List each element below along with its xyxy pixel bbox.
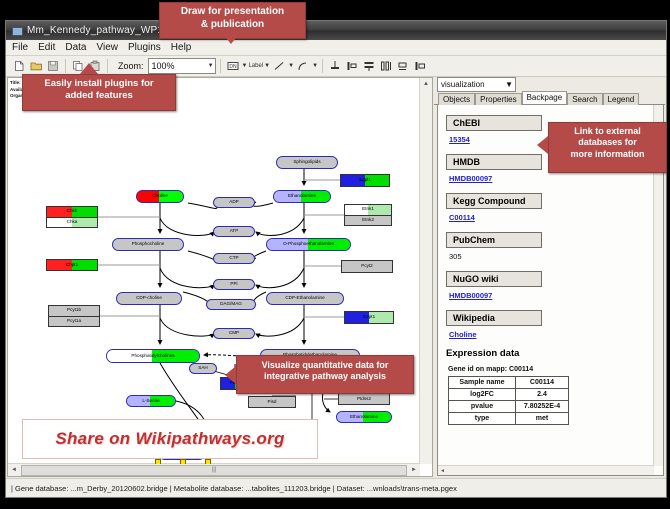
expr-key-log2fc: log2FC xyxy=(449,389,516,401)
tab-search[interactable]: Search xyxy=(567,93,602,105)
metabolite-node-phosphatidylcholines[interactable]: Phosphatidylcholines xyxy=(106,349,200,363)
node-label: Ptdss2 xyxy=(357,397,371,402)
menubar: File Edit Data View Plugins Help xyxy=(6,40,666,56)
callout-share: Share on Wikipathways.org xyxy=(22,419,318,459)
statusbar-text: | Gene database: ...m_Derby_20120602.bri… xyxy=(11,484,457,493)
arc-icon[interactable] xyxy=(295,58,311,74)
align-stack-icon[interactable] xyxy=(361,58,377,74)
toolbar-separator-2 xyxy=(107,59,108,73)
zoom-value: 100% xyxy=(152,61,175,71)
metabolite-node-l-serine-left[interactable]: L-Serine xyxy=(126,395,176,407)
window-titlebar: Mm_Kennedy_pathway_WP1771_45176.gpml xyxy=(6,21,666,40)
menu-view[interactable]: View xyxy=(96,42,118,53)
callout-plugins-line2: added features xyxy=(23,90,175,102)
expr-val-log2fc: 2.4 xyxy=(516,389,569,401)
gene-node-row: Etnk1 xyxy=(345,205,391,215)
align-width-icon[interactable] xyxy=(378,58,394,74)
chevron-down-icon: ▼ xyxy=(505,80,513,89)
canvas-hscrollbar[interactable]: ◄ ||| ► xyxy=(8,463,420,476)
screenshot-root: Mm_Kennedy_pathway_WP1771_45176.gpml Fil… xyxy=(0,0,670,509)
chevron-down-icon: ▼ xyxy=(208,63,214,69)
node-label: SAH xyxy=(198,366,207,371)
table-row: type met xyxy=(449,413,569,425)
metabolite-node-dag-mag[interactable]: DAG/MAG xyxy=(206,299,256,310)
callout-link-arrow-icon xyxy=(537,136,548,154)
node-label: Phosphatidylcholines xyxy=(131,354,174,359)
gene-node-pcyt1b-pcyt1a[interactable]: Pcyt1bPcyt1a xyxy=(48,305,100,327)
expr-val-pvalue: 7.80252E-4 xyxy=(516,401,569,413)
metabolite-node-phosphocholine[interactable]: Phosphocholine xyxy=(112,238,184,251)
interaction-dropdown[interactable]: ▼ xyxy=(295,58,318,74)
node-label: Sgpl1 xyxy=(359,178,371,183)
datanode-dropdown[interactable]: DN ▼ xyxy=(225,58,248,74)
metabolite-node-ppi[interactable]: PPi xyxy=(213,279,255,290)
gene-node-ptdss2[interactable]: Ptdss2 xyxy=(338,393,390,405)
align-top-icon[interactable] xyxy=(327,58,343,74)
scroll-left-icon[interactable]: ◄ xyxy=(438,467,447,475)
node-label: Chkb xyxy=(67,209,78,214)
table-row: Sample name C00114 xyxy=(449,377,569,389)
node-label: ATP xyxy=(230,229,239,234)
gene-node-pcyt2[interactable]: Pcyt2 xyxy=(341,260,393,273)
node-label: Chpt1 xyxy=(66,263,78,268)
callout-link-line1: Link to external xyxy=(549,126,666,137)
node-label: Sphingolipids xyxy=(293,160,320,165)
metabolite-node-adp[interactable]: ADP xyxy=(213,197,255,208)
menu-file[interactable]: File xyxy=(12,42,28,53)
callout-plugins-arrow-icon xyxy=(80,63,98,74)
expression-data-heading: Expression data xyxy=(446,348,648,359)
db-value-pubchem: 305 xyxy=(449,252,648,261)
pathway-canvas-panel[interactable]: Title: Availa Organi xyxy=(7,77,433,477)
gene-node-row: Sgpl1 xyxy=(341,175,389,186)
tab-legend[interactable]: Legend xyxy=(603,93,640,105)
gene-node-row: Pisd xyxy=(249,397,295,407)
node-label: Pcyt1b xyxy=(67,308,81,313)
node-label: Cept1 xyxy=(363,315,375,320)
db-box-wikipedia: Wikipedia xyxy=(446,310,542,326)
chevron-down-icon: ▼ xyxy=(288,63,294,69)
callout-draw-arrow-icon xyxy=(222,33,240,44)
visualization-row: visualization ▼ xyxy=(434,77,665,91)
callout-visualize-arrow-icon xyxy=(225,366,236,384)
gene-node-row: Chpt1 xyxy=(47,260,97,270)
node-label: Ethanolamine xyxy=(288,194,316,199)
node-label: ADP xyxy=(229,200,238,205)
statusbar: | Gene database: ...m_Derby_20120602.bri… xyxy=(6,478,666,497)
toolbar-separator-4 xyxy=(322,59,323,73)
toolbar-separator-1 xyxy=(65,59,66,73)
node-label: Pcyt2 xyxy=(361,264,373,269)
datanode-icon[interactable]: DN xyxy=(225,58,241,74)
gene-node-row: Ptdss2 xyxy=(339,394,389,404)
gene-id-line: Gene id on mapp: C00114 xyxy=(448,366,648,373)
expr-key-type: type xyxy=(449,413,516,425)
node-label: PPi xyxy=(230,282,237,287)
callout-link-line3: more information xyxy=(549,149,666,160)
scroll-right-icon[interactable]: ► xyxy=(408,465,420,476)
expr-val-type: met xyxy=(516,413,569,425)
metabolite-node-sah[interactable]: SAH xyxy=(189,363,217,374)
menu-plugins[interactable]: Plugins xyxy=(128,42,161,53)
pathway-canvas[interactable]: Title: Availa Organi xyxy=(8,78,420,464)
callout-draw-line1: Draw for presentation xyxy=(160,6,305,19)
db-link-kegg-compound[interactable]: C00114 xyxy=(449,213,648,222)
tab-backpage[interactable]: Backpage xyxy=(522,91,568,104)
node-label: Etnk1 xyxy=(362,207,374,212)
table-row: log2FC 2.4 xyxy=(449,389,569,401)
db-link-nugo-wiki[interactable]: HMDB00097 xyxy=(449,291,648,300)
node-label: CDP-choline xyxy=(136,296,162,301)
gene-node-row: Chka xyxy=(47,217,97,228)
node-label: Etnk2 xyxy=(362,218,374,223)
metabolite-node-o-phosphoethanolamine[interactable]: O-Phosphoethanolamine xyxy=(266,238,351,251)
db-link-hmdb[interactable]: HMDB00097 xyxy=(449,174,648,183)
callout-visualize-line1: Visualize quantitative data for xyxy=(237,360,413,371)
new-icon[interactable] xyxy=(11,58,27,74)
callout-draw-line2: & publication xyxy=(160,19,305,32)
gene-node-row: Pcyt1a xyxy=(49,316,99,327)
node-label: Choline xyxy=(152,194,168,199)
gene-node-row: Pcyt1b xyxy=(49,306,99,316)
group-icon[interactable] xyxy=(395,58,411,74)
db-box-kegg-compound: Kegg Compound xyxy=(446,193,542,209)
save-icon[interactable] xyxy=(45,58,61,74)
metabolite-node-atp[interactable]: ATP xyxy=(213,226,255,237)
side-panel-tabs: Objects Properties Backpage Search Legen… xyxy=(434,91,665,105)
db-box-pubchem: PubChem xyxy=(446,232,542,248)
expr-key-sample-name: Sample name xyxy=(449,377,516,389)
node-label: Pcyt1a xyxy=(67,319,81,324)
expr-key-pvalue: pvalue xyxy=(449,401,516,413)
selection-handle[interactable] xyxy=(180,459,186,464)
callout-visualize-line2: integrative pathway analysis xyxy=(237,371,413,382)
callout-plugins: Easily install plugins for added feature… xyxy=(22,74,176,111)
menu-data[interactable]: Data xyxy=(65,42,86,53)
tab-objects[interactable]: Objects xyxy=(438,93,475,105)
menu-edit[interactable]: Edit xyxy=(38,42,55,53)
metabolite-node-ctp[interactable]: CTP xyxy=(213,253,255,264)
node-label: CMP xyxy=(229,331,239,336)
align-left-icon[interactable] xyxy=(344,58,360,74)
gene-node-row: Etnk2 xyxy=(345,215,391,226)
metabolite-node-cdp-choline[interactable]: CDP-choline xyxy=(116,292,182,305)
chevron-down-icon: ▼ xyxy=(242,63,248,69)
gene-node-chpt1[interactable]: Chpt1 xyxy=(46,259,98,271)
line-dropdown[interactable]: ▼ xyxy=(271,58,294,74)
open-icon[interactable] xyxy=(28,58,44,74)
expr-val-sample-name: C00114 xyxy=(516,377,569,389)
gene-node-etnk1-etnk2[interactable]: Etnk1Etnk2 xyxy=(344,204,392,226)
gene-node-chkb-chka[interactable]: ChkbChka xyxy=(46,206,98,228)
table-row: pvalue 7.80252E-4 xyxy=(449,401,569,413)
metabolite-node-cdp-ethanolamine[interactable]: CDP-Ethanolamine xyxy=(266,292,344,305)
node-label: Phosphocholine xyxy=(132,242,165,247)
callout-share-text: Share on Wikipathways.org xyxy=(55,429,284,449)
selection-handle[interactable] xyxy=(155,459,161,464)
zoom-label: Zoom: xyxy=(118,61,144,71)
scroll-left-icon[interactable]: ◄ xyxy=(8,465,20,476)
gene-node-cept1[interactable]: Cept1 xyxy=(344,311,394,324)
metabolite-node-cmp[interactable]: CMP xyxy=(213,328,255,339)
db-box-hmdb: HMDB xyxy=(446,154,542,170)
label-dropdown[interactable]: Label ▼ xyxy=(248,63,270,69)
node-label: CTP xyxy=(229,256,238,261)
line-icon[interactable] xyxy=(271,58,287,74)
visualization-select[interactable]: visualization ▼ xyxy=(437,77,516,92)
db-link-wikipedia[interactable]: Choline xyxy=(449,330,648,339)
callout-plugins-line1: Easily install plugins for xyxy=(23,78,175,90)
toolbar-separator-3 xyxy=(220,59,221,73)
gene-node-pisd[interactable]: Pisd xyxy=(248,396,296,408)
callout-link-line2: databases for xyxy=(549,137,666,148)
node-label: DAG/MAG xyxy=(220,302,242,307)
db-box-nugo-wiki: NuGO wiki xyxy=(446,271,542,287)
canvas-hscroll-thumb[interactable]: ||| xyxy=(21,465,407,476)
gene-node-row: Chkb xyxy=(47,207,97,217)
menu-help[interactable]: Help xyxy=(171,42,192,53)
pathvisio-icon xyxy=(11,25,22,36)
node-label: Ethanolamine xyxy=(350,415,378,420)
callout-visualize: Visualize quantitative data for integrat… xyxy=(236,355,414,394)
chevron-down-icon: ▼ xyxy=(312,63,318,69)
label-tool-label: Label xyxy=(248,63,263,69)
gene-node-row: Pcyt2 xyxy=(342,261,392,272)
backpage-hscrollbar[interactable]: ◄ xyxy=(438,465,654,475)
ungroup-icon[interactable] xyxy=(412,58,428,74)
node-label: L-Serine xyxy=(142,399,159,404)
tab-properties[interactable]: Properties xyxy=(475,93,521,105)
visualization-select-value: visualization xyxy=(441,80,485,89)
node-label: CDP-Ethanolamine xyxy=(285,296,324,301)
gene-node-sgpl1[interactable]: Sgpl1 xyxy=(340,174,390,187)
gene-node-row: Cept1 xyxy=(345,312,393,323)
node-label: Chka xyxy=(67,220,78,225)
node-label: Pisd xyxy=(268,400,277,405)
selection-handle[interactable] xyxy=(205,459,211,464)
node-label: O-Phosphoethanolamine xyxy=(283,242,334,247)
db-box-chebi: ChEBI xyxy=(446,115,542,131)
callout-link: Link to external databases for more info… xyxy=(548,122,667,173)
canvas-vscrollbar[interactable]: ▲ xyxy=(419,78,432,464)
metabolite-node-choline-top[interactable]: Choline xyxy=(136,190,184,203)
expression-table: Sample name C00114 log2FC 2.4 pvalue 7.8… xyxy=(448,376,569,425)
svg-text:DN: DN xyxy=(229,64,237,70)
metabolite-node-ethanolamine-top[interactable]: Ethanolamine xyxy=(273,190,331,203)
chevron-down-icon: ▼ xyxy=(264,63,270,69)
zoom-combo[interactable]: 100% ▼ xyxy=(148,58,216,74)
metabolite-node-sphingolipids[interactable]: Sphingolipids xyxy=(276,156,338,169)
metabolite-node-ethanolamine-bottom[interactable]: Ethanolamine xyxy=(336,411,392,423)
scroll-up-icon[interactable]: ▲ xyxy=(420,78,432,89)
